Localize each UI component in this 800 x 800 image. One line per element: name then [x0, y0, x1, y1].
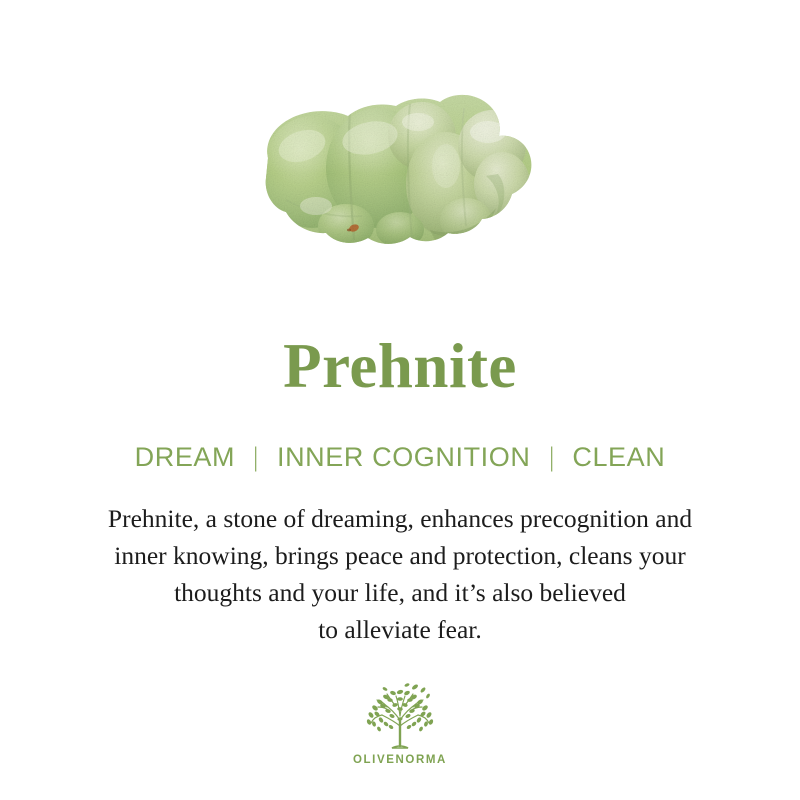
brand-wordmark: OLIVENORMA	[0, 754, 800, 766]
keyword-separator: |	[544, 443, 558, 471]
description-line: thoughts and your life, and it’s also be…	[0, 574, 800, 611]
stone-image	[0, 80, 800, 250]
keyword-dream: DREAM	[135, 442, 236, 472]
keyword-list: DREAM | INNER COGNITION | CLEAN	[0, 443, 800, 471]
description-line: to alleviate fear.	[0, 611, 800, 648]
keyword-clean: CLEAN	[572, 442, 665, 472]
keyword-inner-cognition: INNER COGNITION	[277, 442, 531, 472]
brand-logo: OLIVENORMA	[0, 680, 800, 766]
description-line: Prehnite, a stone of dreaming, enhances …	[0, 500, 800, 537]
description-line: inner knowing, brings peace and protecti…	[0, 537, 800, 574]
page-title: Prehnite	[0, 335, 800, 398]
olive-tree-icon	[357, 680, 443, 752]
description-text: Prehnite, a stone of dreaming, enhances …	[0, 500, 800, 648]
keyword-separator: |	[249, 443, 263, 471]
prehnite-specimen-illustration	[250, 80, 550, 250]
product-info-card: Prehnite DREAM | INNER COGNITION | CLEAN…	[0, 0, 800, 800]
